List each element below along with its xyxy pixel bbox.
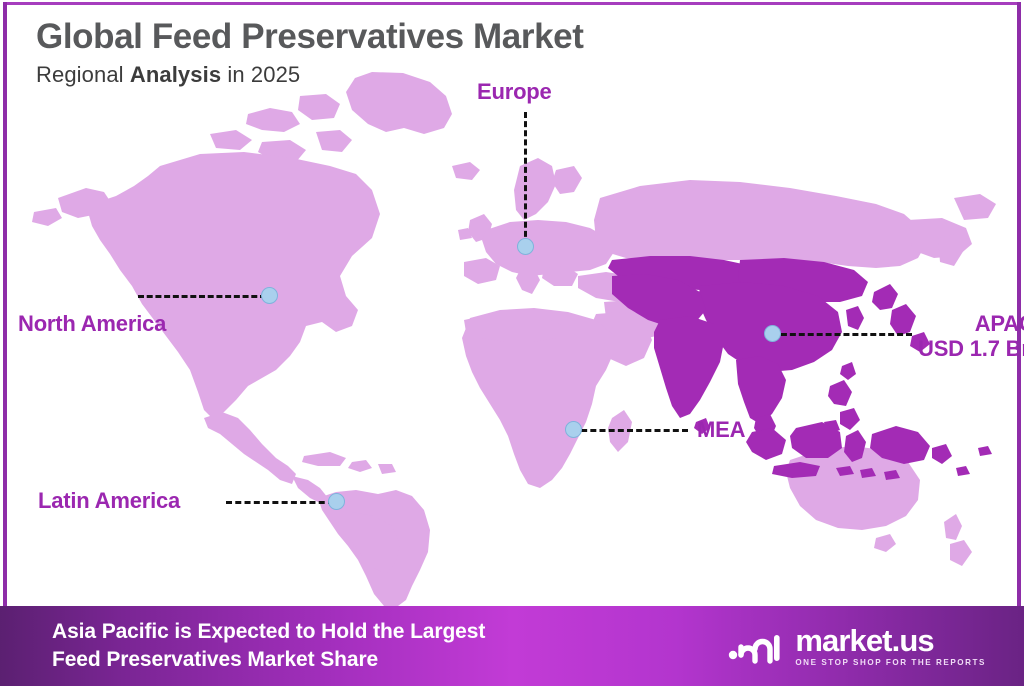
leader-line-europe [524,112,527,246]
page-title: Global Feed Preservatives Market [36,18,583,56]
frame-border-top [3,2,1021,5]
region-label-mea-text: MEA [697,417,745,442]
leader-line-north-america [138,295,266,298]
region-label-europe: Europe [477,80,552,105]
region-label-north-america: North America [18,312,166,337]
frame-border-left [3,2,7,606]
logo-tagline: ONE STOP SHOP FOR THE REPORTS [795,659,986,667]
region-label-latin-america-text: Latin America [38,488,180,513]
logo-text-block: market.us ONE STOP SHOP FOR THE REPORTS [795,625,986,667]
region-label-latin-america: Latin America [38,489,180,514]
world-map [0,70,1024,606]
region-label-europe-text: Europe [477,79,552,104]
map-pin-north-america[interactable] [261,287,278,304]
footer-headline-line2: Feed Preservatives Market Share [52,646,485,674]
map-pin-mea[interactable] [565,421,582,438]
footer-headline-line1: Asia Pacific is Expected to Hold the Lar… [52,618,485,646]
region-label-apac: APAC USD 1.7 Bn [918,312,1024,361]
header: Global Feed Preservatives Market Regiona… [36,18,583,88]
subtitle-emphasis: Analysis [130,62,221,87]
frame-border-right [1017,2,1021,606]
brand-logo[interactable]: market.us ONE STOP SHOP FOR THE REPORTS [728,625,1000,667]
map-pin-europe[interactable] [517,238,534,255]
map-pin-latin-america[interactable] [328,493,345,510]
infographic-root: Global Feed Preservatives Market Regiona… [0,0,1024,686]
subtitle-prefix: Regional [36,62,130,87]
leader-line-apac [772,333,912,336]
logo-wordmark: market.us [795,625,986,656]
region-label-mea: MEA [697,418,745,443]
subtitle-suffix: in 2025 [221,62,300,87]
footer-banner: Asia Pacific is Expected to Hold the Lar… [0,606,1024,686]
map-pin-apac[interactable] [764,325,781,342]
map-land-apac-highlight [608,256,992,480]
region-label-north-america-text: North America [18,311,166,336]
region-value-apac: USD 1.7 Bn [918,337,1024,362]
market-us-logo-icon [728,625,784,667]
footer-headline: Asia Pacific is Expected to Hold the Lar… [52,618,485,674]
world-map-svg [0,70,1024,606]
leader-line-mea [572,429,688,432]
map-land-light [32,72,996,606]
leader-line-latin-america [226,501,334,504]
